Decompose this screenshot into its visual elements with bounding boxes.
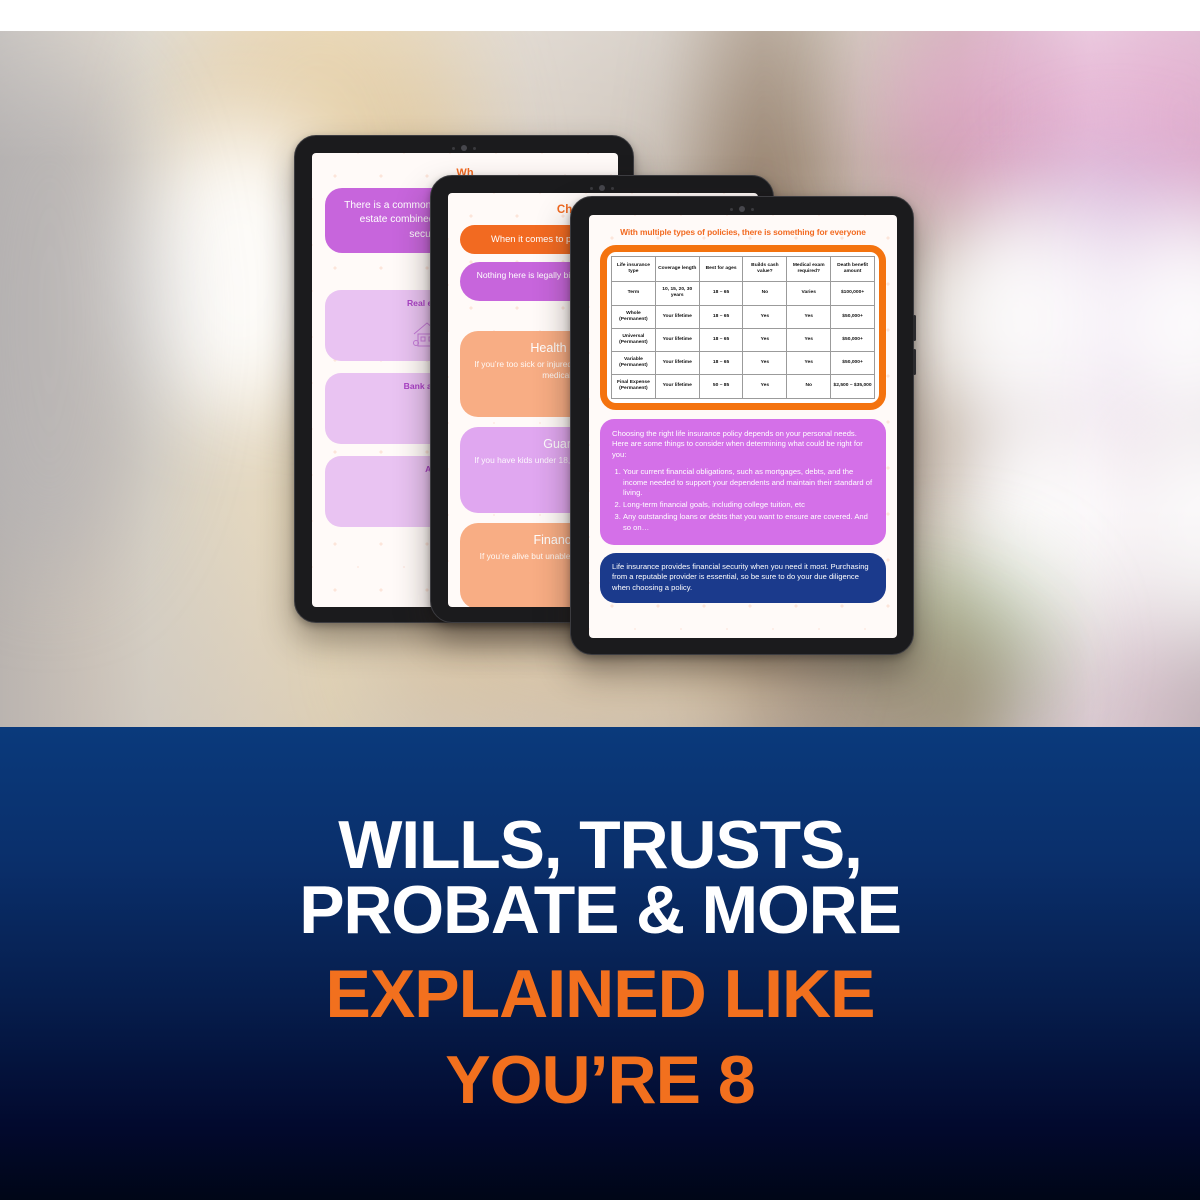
table-row: Final Expense (Permanent) Your lifetime … <box>612 375 875 398</box>
table-row: Whole (Permanent) Your lifetime 18 – 65 … <box>612 305 875 328</box>
camera-cluster-icon <box>571 206 913 212</box>
cell-cash-value: Yes <box>743 328 787 351</box>
cell-coverage: Your lifetime <box>655 352 699 375</box>
cell-cash-value: No <box>743 282 787 305</box>
cell-benefit: $2,500 – $35,000 <box>831 375 875 398</box>
table-row: Term 10, 15, 20, 30 years 18 – 65 No Var… <box>612 282 875 305</box>
cell-benefit: $50,000+ <box>831 328 875 351</box>
summary-blue-box: Life insurance provides financial securi… <box>600 553 886 603</box>
cell-cash-value: Yes <box>743 375 787 398</box>
considerations-list: Your current financial obligations, such… <box>623 467 874 534</box>
tablet-front-screen[interactable]: With multiple types of policies, there i… <box>589 215 897 638</box>
cell-type: Universal (Permanent) <box>612 328 656 351</box>
th-coverage-length: Coverage length <box>655 257 699 282</box>
cell-ages: 18 – 65 <box>699 282 743 305</box>
cell-type: Variable (Permanent) <box>612 352 656 375</box>
cell-ages: 18 – 65 <box>699 305 743 328</box>
cell-coverage: Your lifetime <box>655 305 699 328</box>
policy-table-frame: Life insurance type Coverage length Best… <box>600 245 886 410</box>
policy-table-title: With multiple types of policies, there i… <box>600 227 886 237</box>
hero-photo-background: Wh There is a common home, and while it … <box>0 0 1200 727</box>
policy-comparison-table: Life insurance type Coverage length Best… <box>611 256 875 399</box>
considerations-purple-box: Choosing the right life insurance policy… <box>600 419 886 545</box>
table-header-row: Life insurance type Coverage length Best… <box>612 257 875 282</box>
th-builds-cash-value: Builds cash value? <box>743 257 787 282</box>
top-white-strip <box>0 0 1200 31</box>
consideration-item: Your current financial obligations, such… <box>623 467 874 499</box>
cell-medical: Yes <box>787 305 831 328</box>
cell-benefit: $100,000+ <box>831 282 875 305</box>
cell-medical: Yes <box>787 352 831 375</box>
cell-benefit: $50,000+ <box>831 352 875 375</box>
headline-line-3: EXPLAINED LIKE <box>326 961 875 1028</box>
considerations-lede: Choosing the right life insurance policy… <box>612 429 874 461</box>
bottom-title-banner: WILLS, TRUSTS, PROBATE & MORE EXPLAINED … <box>0 727 1200 1200</box>
volume-button-2[interactable] <box>913 349 916 375</box>
consideration-item: Any outstanding loans or debts that you … <box>623 512 874 534</box>
cell-ages: 50 – 85 <box>699 375 743 398</box>
cell-type: Whole (Permanent) <box>612 305 656 328</box>
table-row: Universal (Permanent) Your lifetime 18 –… <box>612 328 875 351</box>
th-life-insurance-type: Life insurance type <box>612 257 656 282</box>
cell-ages: 18 – 65 <box>699 328 743 351</box>
cell-type: Term <box>612 282 656 305</box>
table-row: Variable (Permanent) Your lifetime 18 – … <box>612 352 875 375</box>
cell-cash-value: Yes <box>743 305 787 328</box>
headline-line-1: WILLS, TRUSTS, <box>338 813 861 878</box>
cell-coverage: 10, 15, 20, 30 years <box>655 282 699 305</box>
th-medical-exam: Medical exam required? <box>787 257 831 282</box>
cell-ages: 18 – 65 <box>699 352 743 375</box>
cell-medical: No <box>787 375 831 398</box>
cell-medical: Yes <box>787 328 831 351</box>
th-death-benefit: Death benefit amount <box>831 257 875 282</box>
tablet-device-front[interactable]: With multiple types of policies, there i… <box>570 196 914 655</box>
cell-cash-value: Yes <box>743 352 787 375</box>
consideration-item: Long-term financial goals, including col… <box>623 500 874 511</box>
volume-button[interactable] <box>913 315 916 341</box>
camera-cluster-icon <box>431 185 773 191</box>
cell-coverage: Your lifetime <box>655 375 699 398</box>
cell-type: Final Expense (Permanent) <box>612 375 656 398</box>
camera-cluster-icon <box>295 145 633 151</box>
cell-coverage: Your lifetime <box>655 328 699 351</box>
th-best-for-ages: Best for ages <box>699 257 743 282</box>
cell-benefit: $50,000+ <box>831 305 875 328</box>
headline-line-4: YOU’RE 8 <box>445 1047 754 1114</box>
cell-medical: Varies <box>787 282 831 305</box>
headline-line-2: PROBATE & MORE <box>299 878 901 943</box>
